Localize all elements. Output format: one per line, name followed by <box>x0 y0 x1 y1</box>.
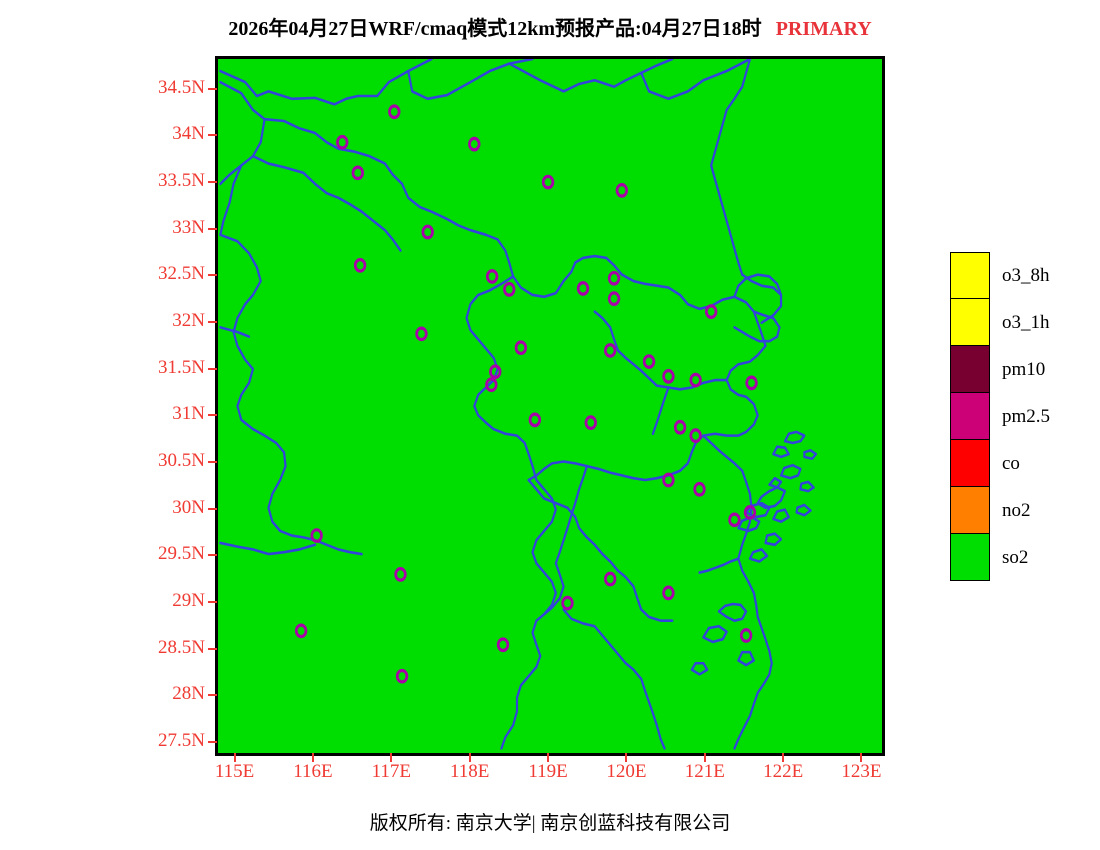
station-marker[interactable] <box>664 371 674 382</box>
x-axis-tick-mark <box>469 753 471 762</box>
station-marker[interactable] <box>353 167 363 178</box>
station-marker[interactable] <box>609 273 619 284</box>
legend-color-swatch <box>950 252 990 299</box>
station-marker[interactable] <box>516 342 526 353</box>
station-marker[interactable] <box>675 422 685 433</box>
y-axis-tick-mark <box>208 228 217 230</box>
x-axis-tick-mark <box>390 753 392 762</box>
y-axis-tick-label: 33N <box>120 217 205 239</box>
station-marker[interactable] <box>730 514 740 525</box>
x-axis-tick-mark <box>860 753 862 762</box>
y-axis-tick-label: 27.5N <box>120 730 205 752</box>
legend-color-swatch <box>950 534 990 581</box>
y-axis-tick-label: 31N <box>120 403 205 425</box>
x-axis-tick-label: 122E <box>743 761 823 783</box>
x-axis-tick-mark <box>234 753 236 762</box>
legend-color-swatch <box>950 440 990 487</box>
station-marker[interactable] <box>337 137 347 148</box>
legend-item-so2[interactable]: so2 <box>950 534 1095 581</box>
legend-item-pm10[interactable]: pm10 <box>950 346 1095 393</box>
y-axis-tick-label: 30N <box>120 497 205 519</box>
legend-item-no2[interactable]: no2 <box>950 487 1095 534</box>
y-axis-tick-mark <box>208 648 217 650</box>
station-marker[interactable] <box>605 345 615 356</box>
y-axis-tick-label: 29.5N <box>120 543 205 565</box>
station-marker[interactable] <box>396 569 406 580</box>
y-axis-tick-label: 31.5N <box>120 357 205 379</box>
y-axis-tick-label: 29N <box>120 590 205 612</box>
legend-color-swatch <box>950 393 990 440</box>
y-axis-tick-mark <box>208 181 217 183</box>
legend-label: o3_8h <box>1002 266 1050 285</box>
x-axis-tick-label: 118E <box>430 761 510 783</box>
station-marker[interactable] <box>691 430 701 441</box>
x-axis-tick-label: 117E <box>351 761 431 783</box>
legend-label: o3_1h <box>1002 313 1050 332</box>
station-marker[interactable] <box>644 356 654 367</box>
station-marker[interactable] <box>417 328 427 339</box>
y-axis-tick-mark <box>208 274 217 276</box>
legend-color-swatch <box>950 299 990 346</box>
y-axis-tick-mark <box>208 321 217 323</box>
x-axis-tick-mark <box>625 753 627 762</box>
x-axis-tick-mark <box>704 753 706 762</box>
x-axis-tick-mark <box>312 753 314 762</box>
legend-label: no2 <box>1002 501 1031 520</box>
x-axis-tick-mark <box>782 753 784 762</box>
station-marker[interactable] <box>530 414 540 425</box>
x-axis-tick-label: 121E <box>665 761 745 783</box>
y-axis-tick-label: 30.5N <box>120 450 205 472</box>
station-marker[interactable] <box>578 283 588 294</box>
legend-item-o38h[interactable]: o3_8h <box>950 252 1095 299</box>
station-marker[interactable] <box>664 587 674 598</box>
y-axis-tick-mark <box>208 601 217 603</box>
legend-label: co <box>1002 454 1020 473</box>
station-marker[interactable] <box>563 597 573 608</box>
station-marker[interactable] <box>617 185 627 196</box>
forecast-map[interactable] <box>215 56 885 756</box>
y-axis-tick-mark <box>208 508 217 510</box>
y-axis-tick-mark <box>208 134 217 136</box>
y-axis-tick-mark <box>208 554 217 556</box>
legend-label: so2 <box>1002 548 1028 567</box>
station-marker[interactable] <box>487 271 497 282</box>
y-axis-tick-label: 34N <box>120 123 205 145</box>
station-marker[interactable] <box>296 625 306 636</box>
legend-color-swatch <box>950 346 990 393</box>
pollutant-legend: o3_8ho3_1hpm10pm2.5cono2so2 <box>950 252 1095 581</box>
y-axis-tick-label: 28N <box>120 683 205 705</box>
y-axis-tick-mark <box>208 414 217 416</box>
legend-label: pm10 <box>1002 360 1045 379</box>
map-vector-layer <box>218 59 882 753</box>
x-axis-tick-label: 116E <box>273 761 353 783</box>
y-axis-tick-mark <box>208 461 217 463</box>
station-marker[interactable] <box>605 573 615 584</box>
station-marker[interactable] <box>504 284 514 295</box>
station-marker[interactable] <box>691 374 701 385</box>
y-axis-tick-mark <box>208 88 217 90</box>
y-axis-tick-mark <box>208 368 217 370</box>
y-axis-tick-label: 33.5N <box>120 170 205 192</box>
station-marker[interactable] <box>355 260 365 271</box>
station-marker[interactable] <box>706 306 716 317</box>
title-primary-label: PRIMARY <box>776 18 872 40</box>
station-marker[interactable] <box>695 484 705 495</box>
legend-label: pm2.5 <box>1002 407 1050 426</box>
station-markers <box>296 106 756 682</box>
y-axis-tick-label: 32N <box>120 310 205 332</box>
y-axis-tick-mark <box>208 694 217 696</box>
y-axis-tick-label: 28.5N <box>120 637 205 659</box>
station-marker[interactable] <box>423 226 433 237</box>
x-axis-tick-mark <box>547 753 549 762</box>
x-axis-tick-label: 119E <box>508 761 588 783</box>
station-marker[interactable] <box>469 138 479 149</box>
legend-color-swatch <box>950 487 990 534</box>
legend-item-co[interactable]: co <box>950 440 1095 487</box>
x-axis-tick-label: 115E <box>195 761 275 783</box>
station-marker[interactable] <box>397 670 407 681</box>
station-marker[interactable] <box>543 176 553 187</box>
y-axis-tick-mark <box>208 741 217 743</box>
station-marker[interactable] <box>389 106 399 117</box>
station-marker[interactable] <box>609 293 619 304</box>
station-marker[interactable] <box>741 630 751 641</box>
legend-item-o31h[interactable]: o3_1h <box>950 299 1095 346</box>
station-marker[interactable] <box>586 417 596 428</box>
x-axis-tick-label: 123E <box>821 761 901 783</box>
chart-title: 2026年04月27日WRF/cmaq模式12km预报产品:04月27日18时P… <box>0 12 1100 41</box>
legend-item-pm25[interactable]: pm2.5 <box>950 393 1095 440</box>
x-axis-tick-label: 120E <box>586 761 666 783</box>
title-main-text: 2026年04月27日WRF/cmaq模式12km预报产品:04月27日18时 <box>228 18 761 40</box>
station-marker[interactable] <box>747 377 757 388</box>
copyright-footer: 版权所有: 南京大学| 南京创蓝科技有限公司 <box>0 808 1100 835</box>
y-axis-tick-label: 32.5N <box>120 263 205 285</box>
y-axis-tick-label: 34.5N <box>120 77 205 99</box>
station-marker[interactable] <box>498 639 508 650</box>
